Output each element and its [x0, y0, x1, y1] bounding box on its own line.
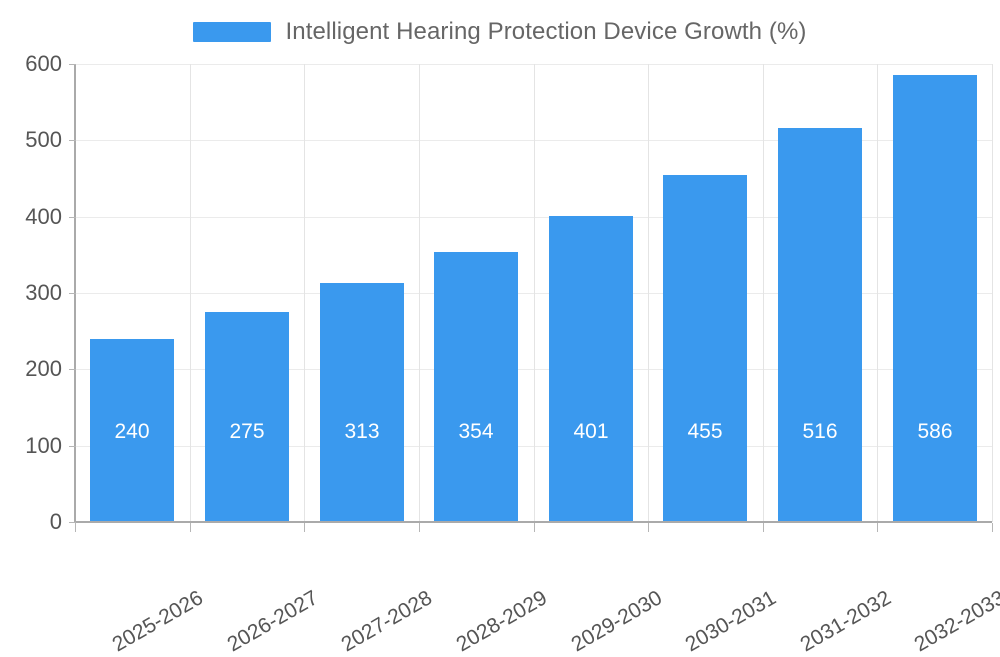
bar-value-label: 516	[778, 420, 862, 444]
x-tick-mark	[992, 523, 993, 532]
plot-area: 240275313354401455516586	[75, 64, 992, 522]
gridline-vertical	[419, 64, 420, 522]
bar-2028-2029[interactable]: 354	[434, 252, 518, 522]
x-tick-mark	[648, 523, 649, 532]
bar-value-label: 586	[893, 420, 977, 444]
bar-value-label: 313	[320, 420, 404, 444]
gridline-vertical	[304, 64, 305, 522]
y-tick-label: 600	[0, 51, 62, 77]
x-tick-mark	[75, 523, 76, 532]
y-tick-label: 0	[0, 509, 62, 535]
bar-2029-2030[interactable]: 401	[549, 216, 633, 522]
x-tick-label: 2028-2029	[539, 536, 638, 607]
y-tick-label: 400	[0, 204, 62, 230]
bar-2031-2032[interactable]: 516	[778, 128, 862, 522]
bar-value-label: 455	[663, 420, 747, 444]
x-tick-label-text: 2032-2033	[910, 586, 1000, 657]
y-tick-label: 100	[0, 433, 62, 459]
x-tick-label-text: 2031-2032	[796, 586, 895, 657]
bar-2025-2026[interactable]: 240	[90, 339, 174, 522]
x-tick-label: 2027-2028	[424, 536, 523, 607]
x-tick-label: 2031-2032	[883, 536, 982, 607]
gridline-vertical	[648, 64, 649, 522]
x-tick-label-text: 2030-2031	[681, 586, 780, 657]
bar-2027-2028[interactable]: 313	[320, 283, 404, 522]
y-tick-mark	[69, 217, 76, 218]
bar-2032-2033[interactable]: 586	[893, 75, 977, 522]
x-tick-mark	[763, 523, 764, 532]
bar-chart: Intelligent Hearing Protection Device Gr…	[0, 0, 1000, 600]
x-tick-label: 2030-2031	[768, 536, 867, 607]
x-tick-mark	[877, 523, 878, 532]
gridline-vertical	[992, 64, 993, 522]
y-tick-mark	[69, 64, 76, 65]
y-tick-mark	[69, 369, 76, 370]
bar-value-label: 240	[90, 420, 174, 444]
x-tick-label: 2029-2030	[654, 536, 753, 607]
gridline-vertical	[534, 64, 535, 522]
x-tick-label: 2025-2026	[195, 536, 294, 607]
y-tick-label: 300	[0, 280, 62, 306]
x-tick-label-text: 2026-2027	[223, 586, 322, 657]
chart-legend: Intelligent Hearing Protection Device Gr…	[0, 14, 1000, 50]
legend-swatch-icon	[193, 22, 271, 42]
gridline-vertical	[763, 64, 764, 522]
x-tick-label-text: 2025-2026	[108, 586, 207, 657]
gridline-vertical	[877, 64, 878, 522]
x-tick-label-text: 2028-2029	[452, 586, 551, 657]
y-tick-mark	[69, 446, 76, 447]
x-tick-mark	[419, 523, 420, 532]
bar-value-label: 275	[205, 420, 289, 444]
x-tick-mark	[534, 523, 535, 532]
y-tick-label: 200	[0, 356, 62, 382]
bar-2026-2027[interactable]: 275	[205, 312, 289, 522]
x-tick-mark	[304, 523, 305, 532]
x-tick-label-text: 2027-2028	[337, 586, 436, 657]
bar-2030-2031[interactable]: 455	[663, 175, 747, 522]
x-tick-mark	[190, 523, 191, 532]
y-tick-mark	[69, 140, 76, 141]
y-tick-label: 500	[0, 127, 62, 153]
x-tick-label-text: 2029-2030	[567, 586, 666, 657]
bar-value-label: 401	[549, 420, 633, 444]
bar-value-label: 354	[434, 420, 518, 444]
legend-label: Intelligent Hearing Protection Device Gr…	[285, 18, 806, 46]
gridline-vertical	[190, 64, 191, 522]
x-tick-label: 2026-2027	[310, 536, 409, 607]
y-tick-mark	[69, 293, 76, 294]
